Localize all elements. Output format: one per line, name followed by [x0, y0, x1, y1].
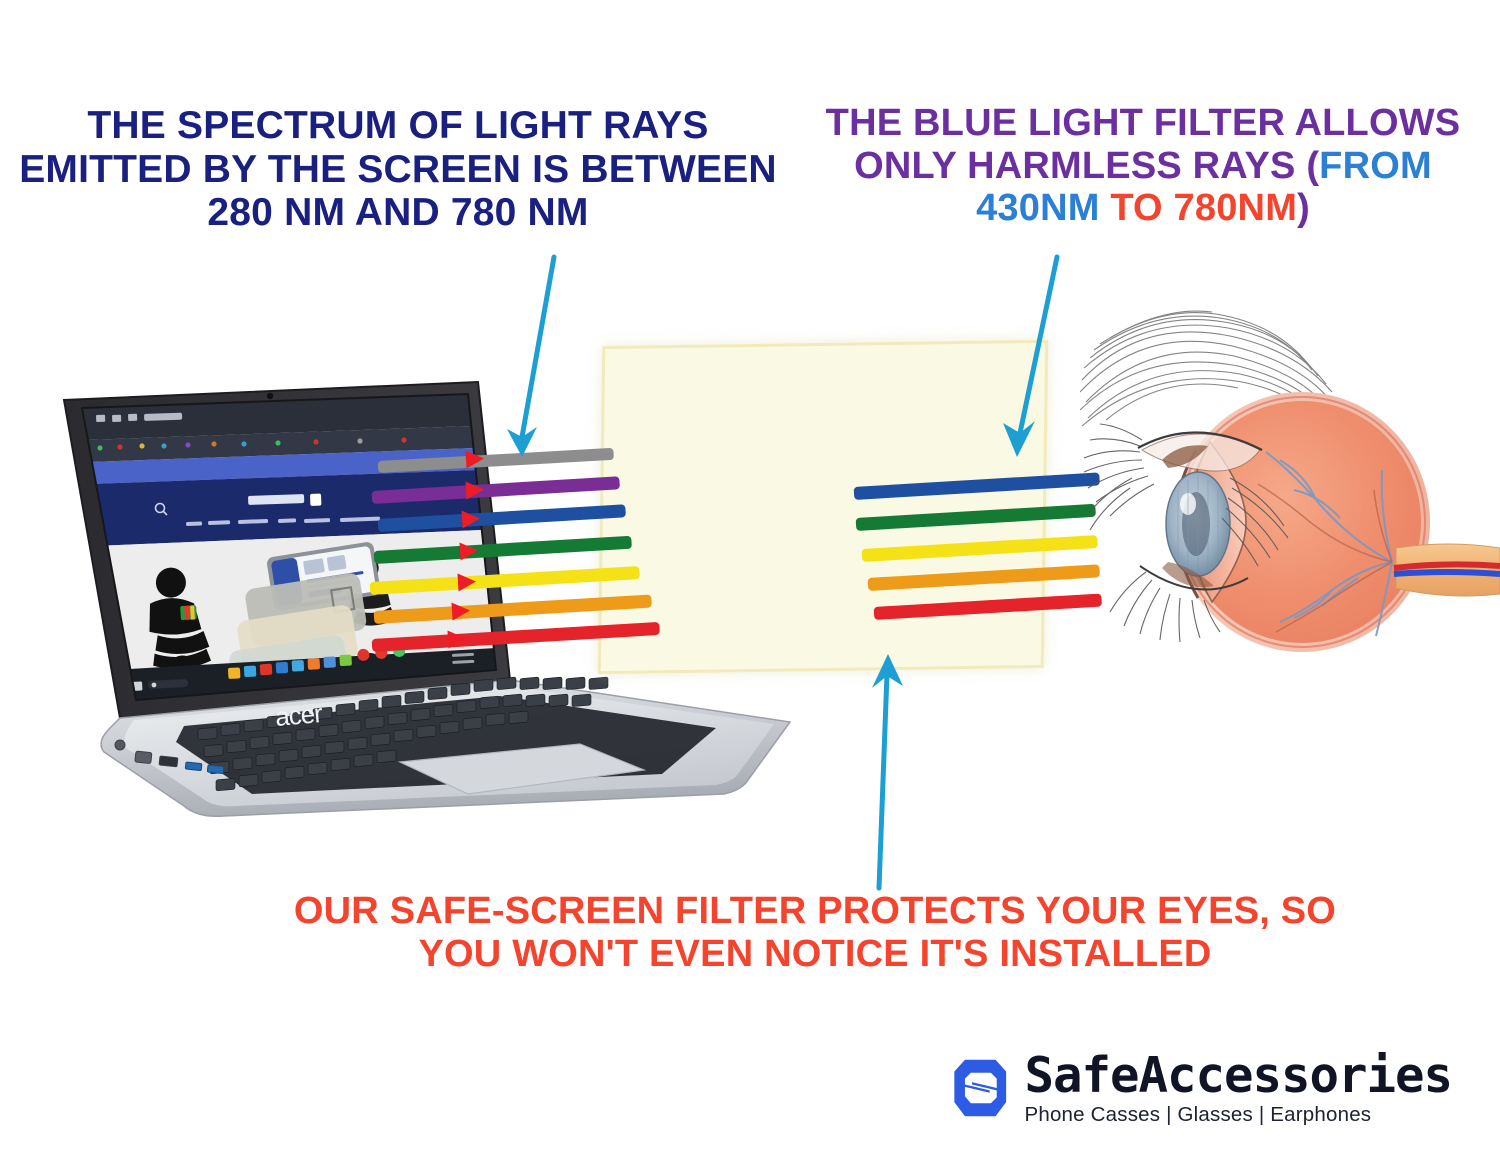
- headline-bottom-protection: OUR SAFE-SCREEN FILTER PROTECTS YOUR EYE…: [255, 890, 1375, 975]
- incoming-ray-violet-arrowhead: [465, 480, 484, 499]
- logo-wordmark: SafeAccessories: [1024, 1051, 1452, 1100]
- optic-artery: [1394, 564, 1500, 568]
- brand-logo: SafeAccessories Phone Casses | Glasses |…: [952, 1032, 1452, 1144]
- arrow-bottom-to-filter: [855, 652, 915, 892]
- headline-right-part4: ): [1297, 187, 1310, 229]
- headline-right-range-high: TO 780NM: [1100, 187, 1298, 229]
- safe-screen-filter-panel[interactable]: [598, 340, 1049, 674]
- headline-right-filter: THE BLUE LIGHT FILTER ALLOWS ONLY HARMLE…: [790, 102, 1496, 230]
- incoming-ray-red-arrowhead: [447, 629, 466, 648]
- incoming-ray-green-arrowhead: [459, 541, 478, 560]
- laptop-brand-label: acer: [274, 698, 324, 732]
- human-eye-cross-section: [1080, 300, 1500, 700]
- incoming-ray-blue-arrowhead: [461, 509, 480, 528]
- incoming-ray-orange-arrowhead: [451, 601, 470, 620]
- infographic-canvas: THE SPECTRUM OF LIGHT RAYS EMITTED BY TH…: [0, 0, 1500, 1150]
- optic-vein: [1394, 572, 1500, 574]
- safe-accessories-shield-icon: [952, 1036, 1008, 1140]
- headline-left-spectrum: THE SPECTRUM OF LIGHT RAYS EMITTED BY TH…: [8, 104, 788, 235]
- laptop-webcam: [267, 393, 273, 399]
- logo-tagline: Phone Casses | Glasses | Earphones: [1024, 1105, 1452, 1126]
- incoming-ray-yellow-arrowhead: [457, 572, 476, 591]
- incoming-ray-gray-arrowhead: [466, 450, 485, 469]
